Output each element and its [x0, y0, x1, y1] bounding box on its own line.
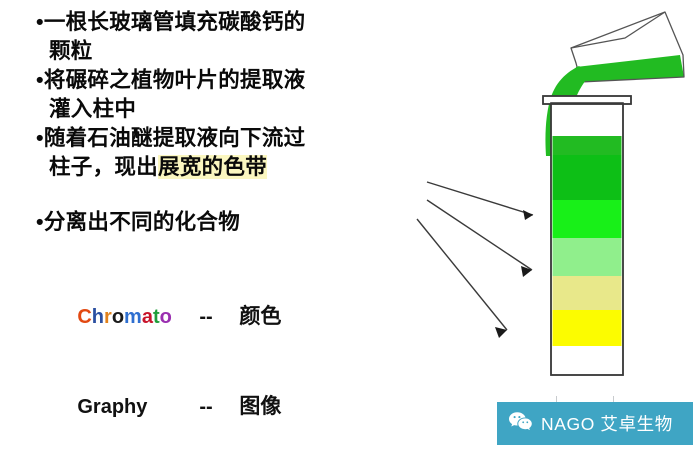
- bullet-item-4-text: 分离出不同的化合物: [44, 210, 240, 234]
- band-2-green: [553, 200, 622, 238]
- pointer-arrow-1: [427, 182, 533, 220]
- band-3-light-green: [553, 238, 622, 276]
- term-row-graphy: Graphy--图像: [44, 362, 344, 452]
- column-chromatography-diagram: [395, 0, 693, 400]
- term-letter-6: t: [153, 306, 160, 328]
- term-graphy: Graphy: [77, 392, 199, 422]
- column-bands: [553, 136, 622, 346]
- bullet-marker: •: [36, 10, 44, 34]
- pointer-arrow-2: [427, 200, 532, 277]
- watermark-banner: NAGO 艾卓生物: [497, 402, 693, 445]
- term-letter-0: G: [77, 396, 93, 418]
- bullet-marker: •: [36, 68, 44, 92]
- bullet-item-1-line-2: 颗粒: [36, 37, 386, 66]
- spacer: [36, 182, 386, 208]
- term-letter-3: o: [112, 306, 124, 328]
- term-letter-0: C: [77, 306, 91, 328]
- bullet-item-3-line-2: 柱子，现出展宽的色带: [36, 153, 386, 182]
- bullet-item-1-line-1: •一根长玻璃管填充碳酸钙的: [36, 8, 386, 37]
- term-letter-2: a: [101, 396, 112, 418]
- term-meaning-graphy: 图像: [239, 395, 281, 418]
- bullet-item-4-line-1: •分离出不同的化合物: [36, 208, 386, 237]
- bullet-item-2-line-2: 灌入柱中: [36, 95, 386, 124]
- term-dash-1: --: [199, 302, 239, 332]
- term-letter-4: h: [124, 396, 136, 418]
- slide-canvas: •一根长玻璃管填充碳酸钙的 颗粒 •将碾碎之植物叶片的提取液 灌入柱中 •随着石…: [0, 0, 693, 445]
- bullet-marker: •: [36, 126, 44, 150]
- bullet-item-2-text: 将碾碎之植物叶片的提取液: [44, 68, 306, 92]
- term-letter-1: h: [92, 306, 104, 328]
- bullet-item-1-text: 一根长玻璃管填充碳酸钙的: [44, 10, 306, 34]
- term-letter-2: r: [104, 306, 112, 328]
- term-chromato: Chromato: [77, 302, 199, 332]
- term-dash-2: --: [199, 392, 239, 422]
- banner-label: NAGO 艾卓生物: [541, 411, 673, 436]
- term-letter-3: p: [112, 396, 124, 418]
- term-meaning-chromato: 颜色: [239, 305, 281, 328]
- term-letter-1: r: [93, 396, 101, 418]
- bullet-item-3-line-1: •随着石油醚提取液向下流过: [36, 124, 386, 153]
- text-panel: •一根长玻璃管填充碳酸钙的 颗粒 •将碾碎之植物叶片的提取液 灌入柱中 •随着石…: [36, 8, 386, 237]
- band-1-dark-green: [553, 155, 622, 200]
- term-letter-7: o: [160, 306, 172, 328]
- highlighted-phrase: 展宽的色带: [158, 155, 267, 179]
- band-4-pale-yellow: [553, 276, 622, 310]
- pointer-arrow-3: [417, 219, 507, 338]
- pointer-arrows: [417, 182, 533, 338]
- pouring-flask-icon: [571, 12, 684, 82]
- bullet-item-2-line-1: •将碾碎之植物叶片的提取液: [36, 66, 386, 95]
- wechat-icon: [508, 411, 534, 436]
- term-letter-5: y: [136, 396, 147, 418]
- bullet-item-3-plain: 柱子，现出: [49, 155, 158, 179]
- term-definition-block: Chromato--颜色 Graphy--图像: [44, 272, 344, 452]
- bullet-item-3-text: 随着石油醚提取液向下流过: [44, 126, 306, 150]
- band-5-yellow: [553, 310, 622, 346]
- term-letter-5: a: [142, 306, 153, 328]
- term-row-chromato: Chromato--颜色: [44, 272, 344, 362]
- term-letter-4: m: [124, 306, 142, 328]
- bullet-marker: •: [36, 210, 44, 234]
